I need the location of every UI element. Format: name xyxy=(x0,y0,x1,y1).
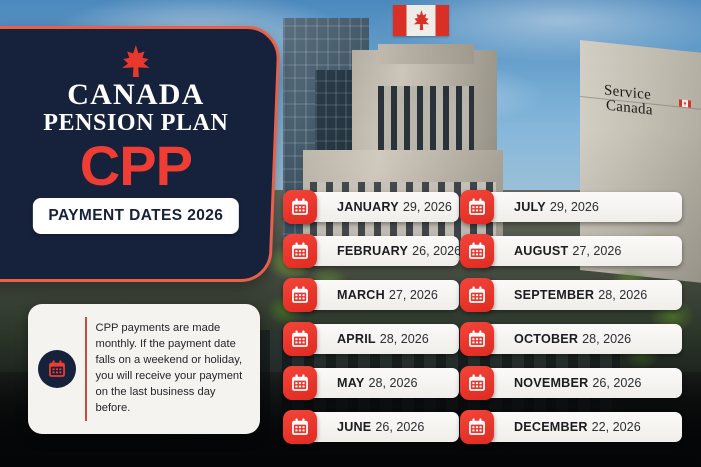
date-bar: AUGUST 27, 2026 xyxy=(477,236,682,266)
date-row[interactable]: MARCH 27, 2026 xyxy=(283,278,459,312)
day-label: 29, 2026 xyxy=(550,200,599,214)
month-label: DECEMBER xyxy=(514,420,588,434)
calendar-icon xyxy=(460,278,494,312)
month-label: SEPTEMBER xyxy=(514,288,594,302)
title-acronym-cpp: CPP xyxy=(16,139,256,193)
date-column-right: JULY 29, 2026 AUGUST 27, 2026 SEPTEMBER … xyxy=(460,190,682,454)
month-label: JUNE xyxy=(337,420,371,434)
date-row[interactable]: JUNE 26, 2026 xyxy=(283,410,459,444)
date-bar: NOVEMBER 26, 2026 xyxy=(477,368,682,398)
calendar-icon xyxy=(283,322,317,356)
note-text: CPP payments are made monthly. If the pa… xyxy=(96,321,249,416)
date-row[interactable]: AUGUST 27, 2026 xyxy=(460,234,682,268)
month-label: NOVEMBER xyxy=(514,376,588,390)
date-bar: MARCH 27, 2026 xyxy=(300,280,459,310)
date-row[interactable]: JULY 29, 2026 xyxy=(460,190,682,224)
date-bar: FEBRUARY 26, 2026 xyxy=(300,236,459,266)
date-bar: JANUARY 29, 2026 xyxy=(300,192,459,222)
day-label: 26, 2026 xyxy=(592,376,641,390)
note-calendar-icon xyxy=(38,350,76,388)
note-divider xyxy=(85,317,87,421)
calendar-icon xyxy=(283,278,317,312)
date-row[interactable]: MAY 28, 2026 xyxy=(283,366,459,400)
date-row[interactable]: APRIL 28, 2026 xyxy=(283,322,459,356)
calendar-icon xyxy=(460,410,494,444)
calendar-icon xyxy=(283,190,317,224)
date-row[interactable]: JANUARY 29, 2026 xyxy=(283,190,459,224)
day-label: 26, 2026 xyxy=(412,244,459,258)
month-label: OCTOBER xyxy=(514,332,578,346)
date-row[interactable]: NOVEMBER 26, 2026 xyxy=(460,366,682,400)
date-bar: SEPTEMBER 28, 2026 xyxy=(477,280,682,310)
date-row[interactable]: FEBRUARY 26, 2026 xyxy=(283,234,459,268)
date-bar: JUNE 26, 2026 xyxy=(300,412,459,442)
calendar-icon xyxy=(283,410,317,444)
date-bar: DECEMBER 22, 2026 xyxy=(477,412,682,442)
day-label: 27, 2026 xyxy=(389,288,438,302)
day-label: 26, 2026 xyxy=(375,420,424,434)
date-column-left: JANUARY 29, 2026 FEBRUARY 26, 2026 MARCH… xyxy=(283,190,459,454)
maple-leaf-icon xyxy=(121,45,151,77)
day-label: 22, 2026 xyxy=(592,420,641,434)
title-line-canada: CANADA xyxy=(16,79,256,110)
month-label: JANUARY xyxy=(337,200,399,214)
date-bar: APRIL 28, 2026 xyxy=(300,324,459,354)
date-row[interactable]: DECEMBER 22, 2026 xyxy=(460,410,682,444)
payment-dates-badge: PAYMENT DATES 2026 xyxy=(32,198,239,234)
day-label: 28, 2026 xyxy=(598,288,647,302)
calendar-icon xyxy=(460,190,494,224)
month-label: FEBRUARY xyxy=(337,244,408,258)
cpp-payment-dates-poster: Service Canada CANADA PENSION PLAN CPP P… xyxy=(0,0,701,467)
date-bar: OCTOBER 28, 2026 xyxy=(477,324,682,354)
day-label: 27, 2026 xyxy=(572,244,621,258)
day-label: 29, 2026 xyxy=(403,200,452,214)
calendar-icon xyxy=(283,234,317,268)
title-panel: CANADA PENSION PLAN CPP PAYMENT DATES 20… xyxy=(0,26,281,282)
title-line-pension: PENSION PLAN xyxy=(16,111,256,136)
day-label: 28, 2026 xyxy=(368,376,417,390)
month-label: APRIL xyxy=(337,332,376,346)
info-note-card: CPP payments are made monthly. If the pa… xyxy=(28,304,260,434)
calendar-icon xyxy=(460,366,494,400)
date-bar: JULY 29, 2026 xyxy=(477,192,682,222)
day-label: 28, 2026 xyxy=(582,332,631,346)
date-row[interactable]: OCTOBER 28, 2026 xyxy=(460,322,682,356)
date-bar: MAY 28, 2026 xyxy=(300,368,459,398)
calendar-icon xyxy=(283,366,317,400)
calendar-icon xyxy=(460,234,494,268)
month-label: MAY xyxy=(337,376,364,390)
month-label: AUGUST xyxy=(514,244,568,258)
month-label: MARCH xyxy=(337,288,385,302)
calendar-icon xyxy=(460,322,494,356)
date-row[interactable]: SEPTEMBER 28, 2026 xyxy=(460,278,682,312)
day-label: 28, 2026 xyxy=(380,332,429,346)
month-label: JULY xyxy=(514,200,546,214)
